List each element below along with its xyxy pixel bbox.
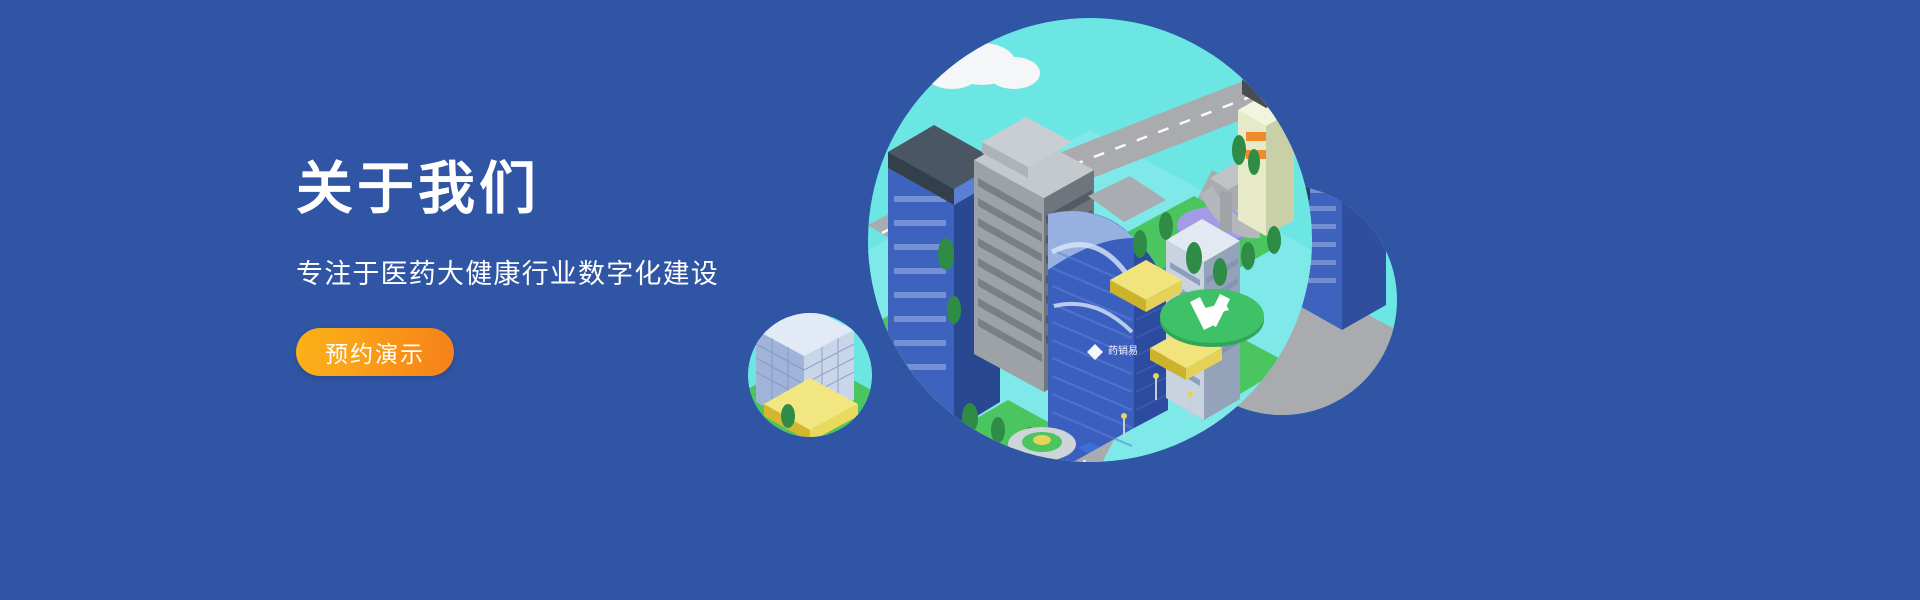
helipad [1160,289,1264,347]
isometric-city-illustration: 药销易 [742,0,1402,600]
plaza [1008,427,1076,461]
about-us-hero-banner: 关于我们 专注于医药大健康行业数字化建设 预约演示 [0,0,1920,600]
illustration-small-lobe [742,304,882,442]
building-logo-text: 药销易 [1108,344,1138,357]
book-demo-button[interactable]: 预约演示 [296,328,454,376]
building-cream-tower [1238,66,1294,236]
